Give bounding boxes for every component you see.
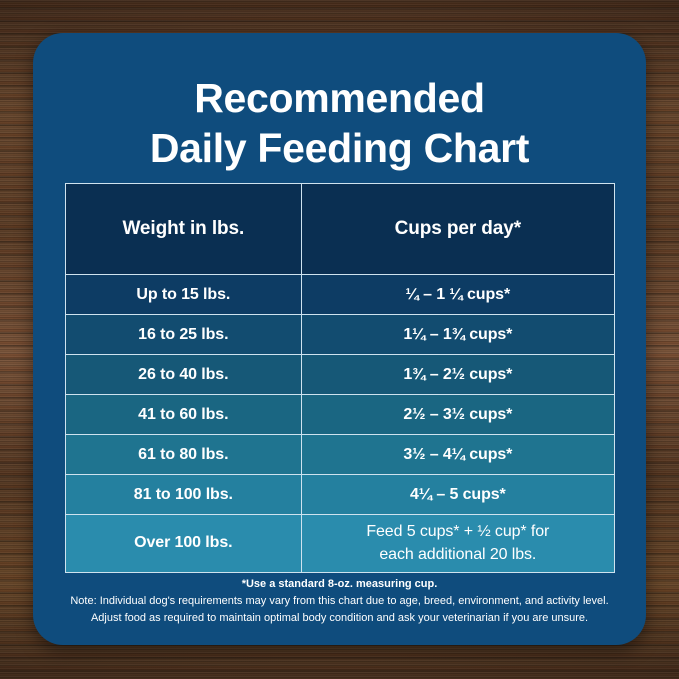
table-row: 16 to 25 lbs. 1¼ – 1¾ cups* — [66, 315, 614, 355]
cell-cups: 2½ – 3½ cups* — [302, 395, 614, 435]
cell-cups: 1¾ – 2½ cups* — [302, 355, 614, 395]
table-row: 81 to 100 lbs. 4¼ – 5 cups* — [66, 475, 614, 515]
table-body: Up to 15 lbs. ¼ – 1 ¼ cups* 16 to 25 lbs… — [66, 275, 614, 572]
cell-cups-line-1: 1¾ – 2½ cups* — [302, 366, 614, 384]
footnote-note: Note: Individual dog's requirements may … — [33, 593, 646, 610]
cell-cups: 1¼ – 1¾ cups* — [302, 315, 614, 355]
table-header-row: Weight in lbs. Cups per day* — [66, 184, 614, 275]
cell-cups: 4¼ – 5 cups* — [302, 475, 614, 515]
cell-cups-line-1: ¼ – 1 ¼ cups* — [302, 286, 614, 304]
cell-cups-line-1: 2½ – 3½ cups* — [302, 406, 614, 424]
page-title-line-2: Daily Feeding Chart — [33, 123, 646, 173]
screenshot-stage: Recommended Daily Feeding Chart Weight i… — [0, 0, 679, 679]
page-title: Recommended Daily Feeding Chart — [33, 73, 646, 173]
table-header: Weight in lbs. Cups per day* — [66, 184, 614, 275]
cell-weight: Over 100 lbs. — [66, 515, 302, 572]
cell-weight: 81 to 100 lbs. — [66, 475, 302, 515]
feeding-table: Weight in lbs. Cups per day* Up to 15 lb… — [65, 183, 615, 573]
page-title-line-1: Recommended — [33, 73, 646, 123]
cell-weight: 61 to 80 lbs. — [66, 435, 302, 475]
cell-weight: 41 to 60 lbs. — [66, 395, 302, 435]
cell-cups-line-1: 1¼ – 1¾ cups* — [302, 326, 614, 344]
column-header-weight: Weight in lbs. — [66, 184, 302, 275]
cell-cups-line-1: Feed 5 cups* + ½ cup* for — [302, 521, 614, 543]
cell-cups: Feed 5 cups* + ½ cup* for each additiona… — [302, 515, 614, 572]
feeding-chart-card: Recommended Daily Feeding Chart Weight i… — [33, 33, 646, 645]
column-header-cups: Cups per day* — [302, 184, 614, 275]
cell-weight: Up to 15 lbs. — [66, 275, 302, 315]
footnote-measuring-cup: *Use a standard 8-oz. measuring cup. — [33, 576, 646, 593]
cell-cups-line-1: 4¼ – 5 cups* — [302, 486, 614, 504]
table-row: 41 to 60 lbs. 2½ – 3½ cups* — [66, 395, 614, 435]
table-row: 61 to 80 lbs. 3½ – 4¼ cups* — [66, 435, 614, 475]
table-row: 26 to 40 lbs. 1¾ – 2½ cups* — [66, 355, 614, 395]
table-row: Over 100 lbs. Feed 5 cups* + ½ cup* for … — [66, 515, 614, 572]
cell-weight: 16 to 25 lbs. — [66, 315, 302, 355]
footnote-adjust: Adjust food as required to maintain opti… — [33, 610, 646, 627]
cell-weight: 26 to 40 lbs. — [66, 355, 302, 395]
footnotes: *Use a standard 8-oz. measuring cup. Not… — [33, 576, 646, 627]
cell-cups-line-1: 3½ – 4¼ cups* — [302, 446, 614, 464]
cell-cups: ¼ – 1 ¼ cups* — [302, 275, 614, 315]
cell-cups: 3½ – 4¼ cups* — [302, 435, 614, 475]
table-row: Up to 15 lbs. ¼ – 1 ¼ cups* — [66, 275, 614, 315]
cell-cups-line-2: each additional 20 lbs. — [302, 544, 614, 566]
